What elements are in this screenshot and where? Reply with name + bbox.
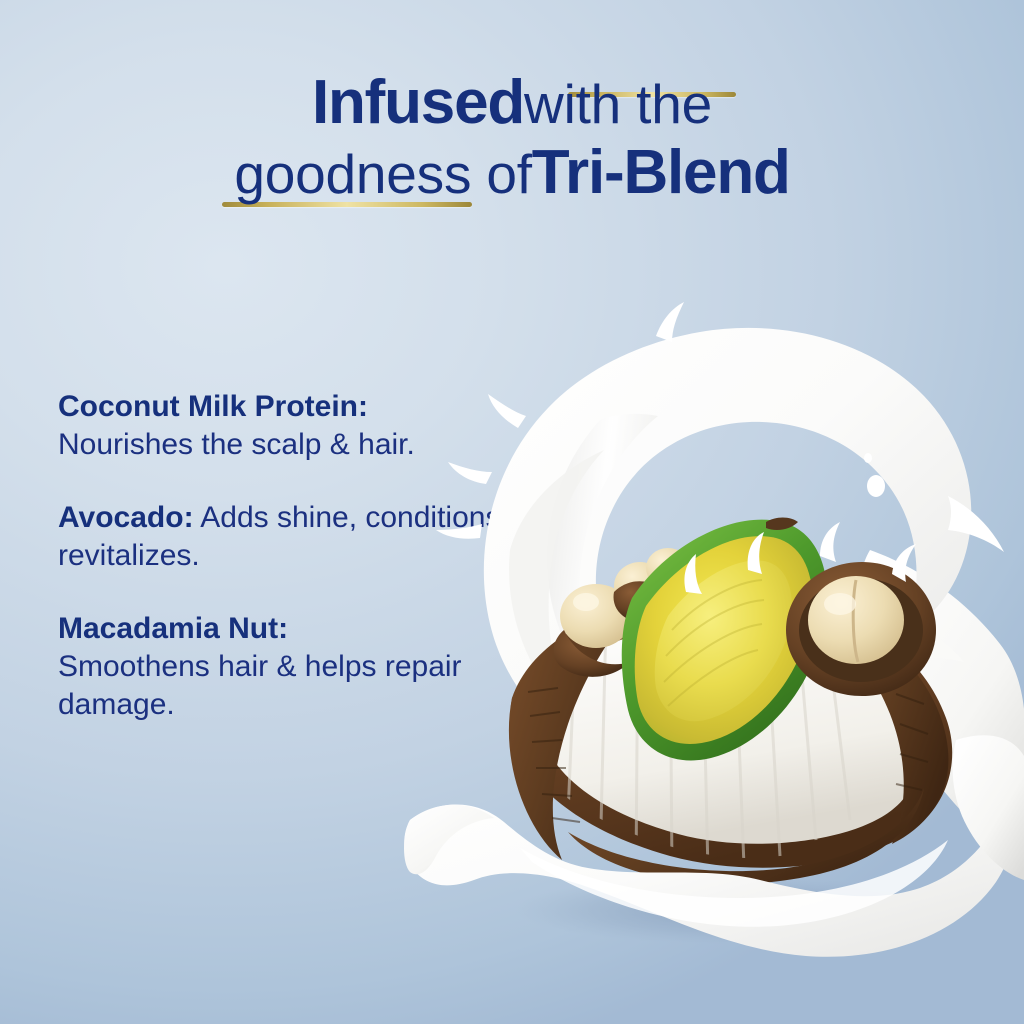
macadamia-nut-in-shell [786,562,936,696]
product-feature-banner: Infusedwith the goodness ofTri-Blend Coc… [0,0,1024,1024]
headline: Infusedwith the goodness ofTri-Blend [0,72,1024,204]
milk-splash-spike [656,302,684,342]
milk-crown-spike [820,522,840,562]
headline-with-the: with the [524,73,712,135]
milk-droplet [867,475,885,497]
macadamia-kernel-highlight [824,593,856,615]
benefit-description: Nourishes the scalp & hair. [58,428,415,461]
milk-droplet-small [864,453,872,463]
milk-splash-illustration [400,300,1024,960]
milk-splash-spike [436,524,482,539]
headline-goodness-of: goodness of [234,143,531,205]
headline-line-1: Infusedwith the [0,72,1024,134]
milk-splash-spike [488,394,526,428]
milk-splash-spike [448,462,492,484]
macadamia-highlight [573,593,599,611]
headline-tri-blend: Tri-Blend [532,138,790,207]
benefit-term: Avocado: [58,501,194,534]
headline-line-2: goodness ofTri-Blend [0,142,1024,204]
headline-infused: Infused [312,68,524,137]
